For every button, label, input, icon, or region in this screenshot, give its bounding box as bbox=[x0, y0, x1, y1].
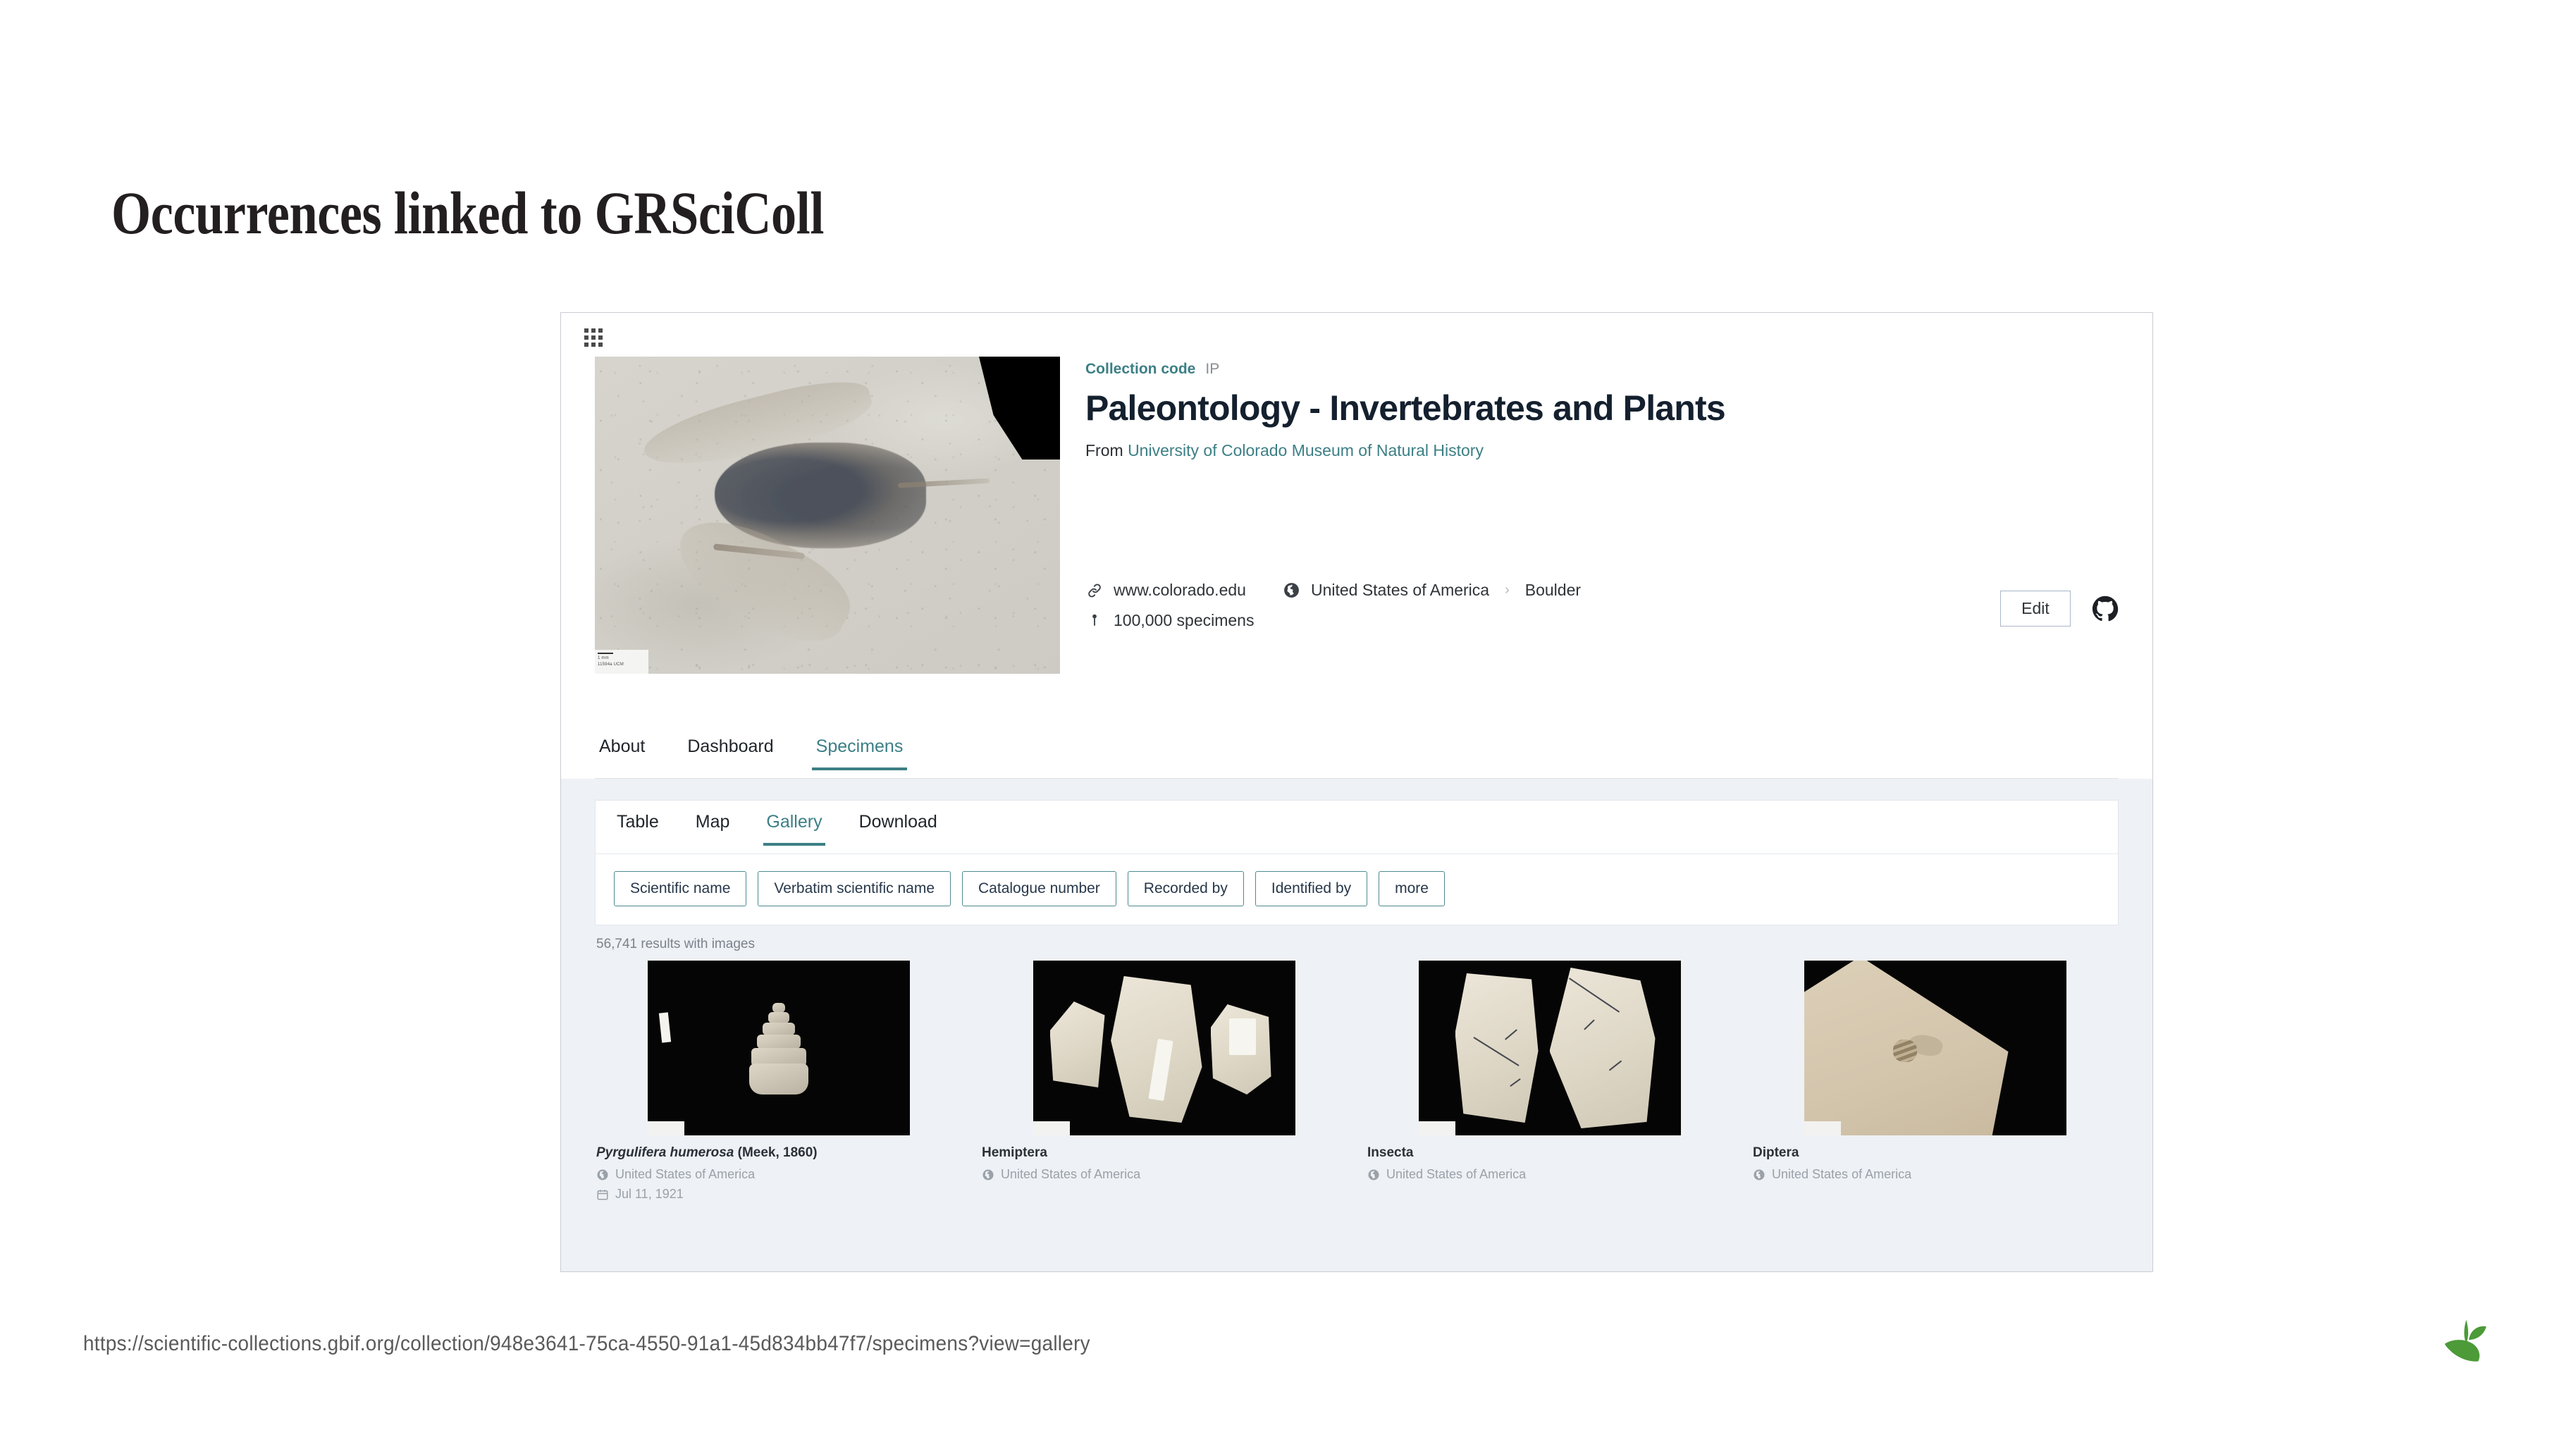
viewtab-download[interactable]: Download bbox=[856, 801, 940, 845]
specimen-authority: Diptera bbox=[1753, 1145, 1799, 1160]
calendar-icon bbox=[596, 1188, 609, 1201]
institution-link[interactable]: University of Colorado Museum of Natural… bbox=[1128, 441, 1484, 460]
filter-catalogue-number[interactable]: Catalogue number bbox=[962, 871, 1116, 906]
globe-icon bbox=[1753, 1169, 1765, 1181]
github-icon[interactable] bbox=[2092, 596, 2119, 622]
thumbnail-wrap bbox=[980, 961, 1348, 1135]
main-tabbar: About Dashboard Specimens bbox=[595, 727, 2119, 779]
specimen-thumbnail[interactable] bbox=[648, 961, 910, 1135]
specimen-count-text: 100,000 specimens bbox=[1114, 611, 1254, 630]
location-item: United States of America › Boulder bbox=[1283, 581, 1581, 600]
hero-specimen-image[interactable]: 1 mm11594a UCM bbox=[595, 357, 1060, 674]
globe-icon bbox=[1283, 581, 1301, 600]
link-icon bbox=[1085, 581, 1104, 600]
globe-icon bbox=[982, 1169, 994, 1181]
specimens-panel: Table Map Gallery Download Scientific na… bbox=[561, 779, 2152, 1271]
thumbnail-scale-tag bbox=[1419, 1121, 1455, 1135]
website-item[interactable]: www.colorado.edu bbox=[1085, 581, 1246, 600]
specimen-scientific-name: Pyrgulifera humerosa bbox=[596, 1145, 734, 1160]
url-caption: https://scientific-collections.gbif.org/… bbox=[83, 1332, 1090, 1356]
specimen-thumbnail[interactable] bbox=[1804, 961, 2066, 1135]
filter-more[interactable]: more bbox=[1379, 871, 1445, 906]
grid-apps-icon[interactable] bbox=[584, 328, 605, 350]
breadcrumb-separator: › bbox=[1505, 582, 1510, 598]
hero-actions: Edit bbox=[2000, 591, 2119, 627]
gastropod-shell-shape bbox=[746, 1003, 811, 1093]
filter-scientific-name[interactable]: Scientific name bbox=[614, 871, 746, 906]
from-line: From University of Colorado Museum of Na… bbox=[1085, 441, 2119, 460]
gallery-caption: Pyrgulifera humerosa (Meek, 1860) United… bbox=[595, 1135, 962, 1202]
collection-hero: 1 mm11594a UCM Collection codeIP Paleont… bbox=[561, 357, 2152, 674]
filter-chip-row: Scientific name Verbatim scientific name… bbox=[596, 854, 2118, 925]
specimen-date-row: Jul 11, 1921 bbox=[596, 1187, 961, 1202]
thumbnail-wrap bbox=[1751, 961, 2119, 1135]
gallery-caption: Diptera United States of America bbox=[1751, 1135, 2119, 1182]
collection-code-value: IP bbox=[1205, 361, 1219, 377]
from-prefix: From bbox=[1085, 441, 1123, 460]
specimen-thumbnail[interactable] bbox=[1033, 961, 1295, 1135]
gallery-item[interactable]: Insecta United States of America bbox=[1366, 961, 1733, 1207]
tab-specimens[interactable]: Specimens bbox=[812, 727, 908, 770]
pin-icon bbox=[1085, 612, 1104, 630]
specimen-count-item: 100,000 specimens bbox=[1085, 611, 1254, 630]
thumbnail-scale-tag bbox=[1033, 1121, 1070, 1135]
globe-icon bbox=[1367, 1169, 1380, 1181]
viewtab-map[interactable]: Map bbox=[693, 801, 733, 845]
specimen-authority: Hemiptera bbox=[982, 1145, 1047, 1160]
specimen-name: Insecta bbox=[1367, 1145, 1732, 1161]
results-count: 56,741 results with images bbox=[595, 925, 2119, 961]
specimen-country: United States of America bbox=[1772, 1167, 1911, 1182]
gallery-item[interactable]: Pyrgulifera humerosa (Meek, 1860) United… bbox=[595, 961, 962, 1207]
specimen-country: United States of America bbox=[615, 1167, 755, 1182]
gallery-item[interactable]: Hemiptera United States of America bbox=[980, 961, 1348, 1207]
specimen-country-row: United States of America bbox=[596, 1167, 961, 1182]
view-tabbar: Table Map Gallery Download bbox=[596, 801, 2118, 854]
contact-block: www.colorado.edu United States of Americ… bbox=[1085, 581, 1581, 641]
gallery-caption: Insecta United States of America bbox=[1366, 1135, 1733, 1182]
globe-icon bbox=[596, 1169, 609, 1181]
specimen-label-tag bbox=[658, 1012, 670, 1042]
thumbnail-wrap bbox=[1366, 961, 1733, 1135]
gbif-leaf-logo bbox=[2442, 1314, 2509, 1381]
filter-recorded-by[interactable]: Recorded by bbox=[1128, 871, 1244, 906]
specimen-date: Jul 11, 1921 bbox=[615, 1187, 684, 1202]
tab-about[interactable]: About bbox=[595, 727, 649, 770]
slide-title: Occurrences linked to GRSciColl bbox=[111, 178, 824, 248]
gallery-grid: Pyrgulifera humerosa (Meek, 1860) United… bbox=[595, 961, 2119, 1207]
thumbnail-wrap bbox=[595, 961, 962, 1135]
thumbnail-scale-tag bbox=[648, 1121, 684, 1135]
specimen-authority: (Meek, 1860) bbox=[734, 1145, 817, 1160]
page-title: Paleontology - Invertebrates and Plants bbox=[1085, 388, 2119, 428]
city-text: Boulder bbox=[1525, 581, 1581, 600]
specimen-name: Pyrgulifera humerosa (Meek, 1860) bbox=[596, 1145, 961, 1161]
contact-row-primary: www.colorado.edu United States of Americ… bbox=[1085, 581, 1581, 600]
collection-meta: Collection codeIP Paleontology - Inverte… bbox=[1085, 357, 2119, 674]
filter-identified-by[interactable]: Identified by bbox=[1255, 871, 1367, 906]
specimen-country: United States of America bbox=[1001, 1167, 1140, 1182]
scale-bar-line bbox=[598, 653, 613, 654]
website-text: www.colorado.edu bbox=[1114, 581, 1246, 600]
viewtab-table[interactable]: Table bbox=[614, 801, 662, 845]
viewtab-gallery[interactable]: Gallery bbox=[763, 801, 825, 845]
specimen-country-row: United States of America bbox=[982, 1167, 1346, 1182]
edit-button[interactable]: Edit bbox=[2000, 591, 2071, 627]
scale-bar-tag: 1 mm11594a UCM bbox=[595, 650, 648, 674]
gallery-item[interactable]: Diptera United States of America bbox=[1751, 961, 2119, 1207]
collection-code-label: Collection code bbox=[1085, 361, 1195, 377]
contact-row-count: 100,000 specimens bbox=[1085, 611, 1581, 630]
country-text: United States of America bbox=[1311, 581, 1489, 600]
specimen-name: Diptera bbox=[1753, 1145, 2117, 1161]
collection-code-row: Collection codeIP bbox=[1085, 361, 2119, 378]
gallery-caption: Hemiptera United States of America bbox=[980, 1135, 1348, 1182]
specimen-country: United States of America bbox=[1386, 1167, 1526, 1182]
browser-screenshot-card: 1 mm11594a UCM Collection codeIP Paleont… bbox=[560, 312, 2153, 1272]
specimen-thumbnail[interactable] bbox=[1419, 961, 1681, 1135]
filter-verbatim-scientific-name[interactable]: Verbatim scientific name bbox=[758, 871, 951, 906]
tab-dashboard[interactable]: Dashboard bbox=[683, 727, 777, 770]
specimen-country-row: United States of America bbox=[1367, 1167, 1732, 1182]
fly-fossil-shape bbox=[1887, 1034, 1940, 1066]
specimen-authority: Insecta bbox=[1367, 1145, 1413, 1160]
specimen-country-row: United States of America bbox=[1753, 1167, 2117, 1182]
search-card: Table Map Gallery Download Scientific na… bbox=[595, 800, 2119, 925]
specimen-name: Hemiptera bbox=[982, 1145, 1346, 1161]
thumbnail-scale-tag bbox=[1804, 1121, 1841, 1135]
